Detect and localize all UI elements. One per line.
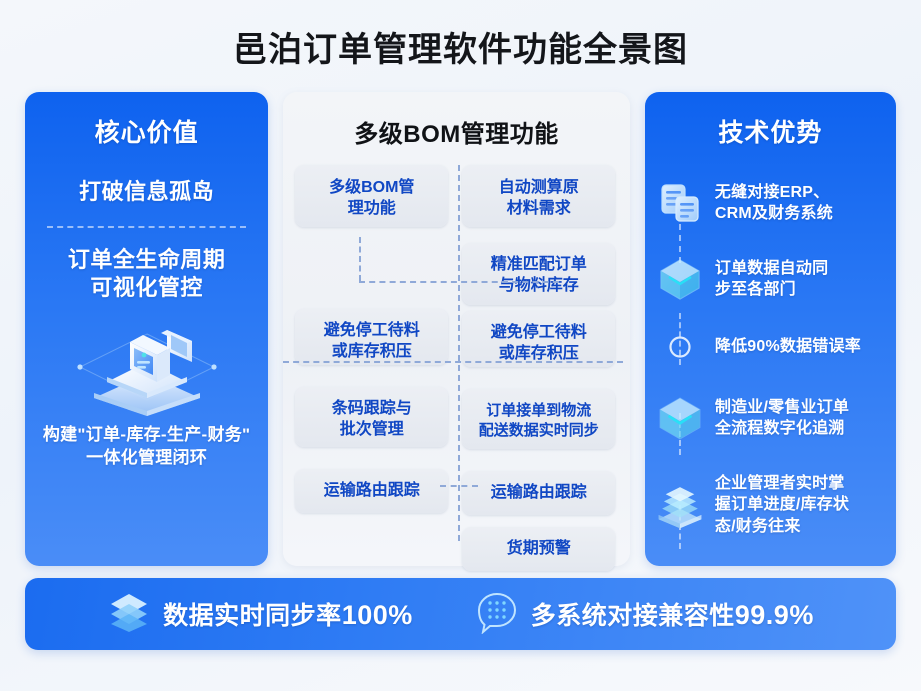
bom-chip-right-4[interactable]: 订单接单到物流 配送数据实时同步 — [462, 389, 615, 449]
stat-item-1-label: 数据实时同步率 — [163, 602, 342, 630]
bom-chip-grid: 多级BOM管 理功能 避免停工待料 或库存积压 条码跟踪与 批次管理 运输路由跟… — [283, 165, 630, 547]
bom-right-column: 自动测算原 材料需求 精准匹配订单 与物料库存 避免停工待料 或库存积压 订单接… — [462, 165, 615, 547]
core-value-closing-line1: 构建"订单-库存-生产-财务" — [33, 424, 260, 446]
bom-chip-right-4-text: 订单接单到物流 配送数据实时同步 — [468, 401, 609, 440]
bom-chip-left-3[interactable]: 条码跟踪与 批次管理 — [295, 387, 448, 447]
stat-item-2-value: 99.9% — [735, 600, 814, 630]
tech-advantage-panel: 技术优势 — [645, 92, 896, 566]
connector-horizontal-3 — [440, 485, 478, 487]
connector-horizontal-2 — [283, 361, 623, 363]
tech-item-1-text: 无缝对接ERP、 CRM及财务系统 — [715, 182, 833, 225]
tech-advantage-timeline: 无缝对接ERP、 CRM及财务系统 — [645, 165, 896, 551]
bom-chip-right-3-text: 避免停工待料 或库存积压 — [468, 323, 609, 365]
stat-item-2: 多系统对接兼容性99.9% — [475, 590, 814, 639]
bom-chip-left-2[interactable]: 避免停工待料 或库存积压 — [295, 309, 448, 365]
core-value-closing: 构建"订单-库存-生产-财务" 一体化管理闭环 — [25, 424, 268, 469]
tech-advantage-heading: 技术优势 — [645, 113, 896, 149]
bom-chip-right-2-text: 精准匹配订单 与物料库存 — [468, 255, 609, 297]
bom-chip-right-5[interactable]: 运输路由跟踪 — [462, 471, 615, 515]
tech-item-4[interactable]: 制造业/零售业订单 全流程数字化追溯 — [655, 377, 882, 459]
bom-chip-right-5-text: 运输路由跟踪 — [491, 483, 587, 504]
core-value-panel: 核心价值 打破信息孤岛 订单全生命周期 可视化管控 — [25, 92, 268, 566]
bom-chip-left-1[interactable]: 多级BOM管 理功能 — [295, 165, 448, 227]
stat-item-2-label: 多系统对接兼容性 — [531, 602, 735, 630]
stats-banner: 数据实时同步率100% 多系统对接兼容性99.9% — [25, 578, 896, 650]
bom-chip-right-1-text: 自动测算原 材料需求 — [468, 178, 609, 220]
bom-chip-right-3[interactable]: 避免停工待料 或库存积压 — [462, 311, 615, 367]
bom-management-panel: 多级BOM管理功能 多级BOM管 理功能 避免停工待料 或库存积压 — [283, 92, 630, 566]
network-bubble-icon — [475, 590, 519, 639]
cube-icon — [655, 393, 705, 443]
cube-icon — [655, 254, 705, 304]
circle-marker-icon — [655, 322, 705, 372]
connector-stub-left-1 — [359, 237, 361, 281]
page-title: 邑泊订单管理软件功能全景图 — [0, 22, 921, 71]
tech-item-2[interactable]: 订单数据自动同 步至各部门 — [655, 241, 882, 317]
bom-chip-left-3-text: 条码跟踪与 批次管理 — [301, 399, 442, 441]
core-value-closing-line2: 一体化管理闭环 — [33, 447, 260, 469]
tech-item-4-text: 制造业/零售业订单 全流程数字化追溯 — [715, 397, 849, 440]
layers-diamond-icon — [107, 590, 151, 639]
tech-item-5[interactable]: 企业管理者实时掌 握订单进度/库存状 态/财务往来 — [655, 459, 882, 551]
tech-item-2-text: 订单数据自动同 步至各部门 — [715, 258, 828, 301]
stat-item-1-text: 数据实时同步率100% — [163, 596, 413, 632]
bom-chip-right-1[interactable]: 自动测算原 材料需求 — [462, 165, 615, 227]
bom-chip-left-1-text: 多级BOM管 理功能 — [301, 178, 442, 220]
bom-chip-right-2[interactable]: 精准匹配订单 与物料库存 — [462, 243, 615, 305]
bom-chip-left-2-text: 避免停工待料 或库存积压 — [301, 321, 442, 363]
panel-columns: 核心价值 打破信息孤岛 订单全生命周期 可视化管控 — [25, 92, 896, 566]
stat-item-1: 数据实时同步率100% — [107, 590, 413, 639]
bom-chip-right-6-text: 货期预警 — [507, 539, 571, 560]
dashed-divider — [47, 226, 246, 228]
stat-item-1-value: 100% — [342, 600, 413, 630]
tech-item-3[interactable]: 降低90%数据错误率 — [655, 317, 882, 377]
bom-panel-heading: 多级BOM管理功能 — [283, 114, 630, 149]
core-value-item-2-line1: 订单全生命周期 — [25, 246, 268, 274]
connector-horizontal-1 — [359, 281, 559, 283]
core-value-item-1: 打破信息孤岛 — [25, 174, 268, 206]
infographic-page: 邑泊订单管理软件功能全景图 核心价值 打破信息孤岛 订单全生命周期 可视化管控 — [0, 0, 921, 691]
core-value-heading: 核心价值 — [25, 113, 268, 149]
stat-item-2-text: 多系统对接兼容性99.9% — [531, 596, 814, 632]
bom-left-column: 多级BOM管 理功能 避免停工待料 或库存积压 条码跟踪与 批次管理 运输路由跟… — [295, 165, 448, 547]
tech-item-3-text: 降低90%数据错误率 — [715, 336, 861, 357]
isometric-server-platform-icon — [25, 310, 268, 420]
core-value-item-2-line2: 可视化管控 — [25, 274, 268, 302]
layered-stack-icon — [655, 480, 705, 530]
bom-chip-left-4[interactable]: 运输路由跟踪 — [295, 469, 448, 513]
core-value-item-2: 订单全生命周期 可视化管控 — [25, 246, 268, 302]
bom-chip-left-4-text: 运输路由跟踪 — [324, 481, 420, 502]
tech-item-5-text: 企业管理者实时掌 握订单进度/库存状 态/财务往来 — [715, 473, 849, 537]
documents-icon — [655, 178, 705, 228]
tech-item-1[interactable]: 无缝对接ERP、 CRM及财务系统 — [655, 165, 882, 241]
bom-chip-right-6[interactable]: 货期预警 — [462, 527, 615, 571]
